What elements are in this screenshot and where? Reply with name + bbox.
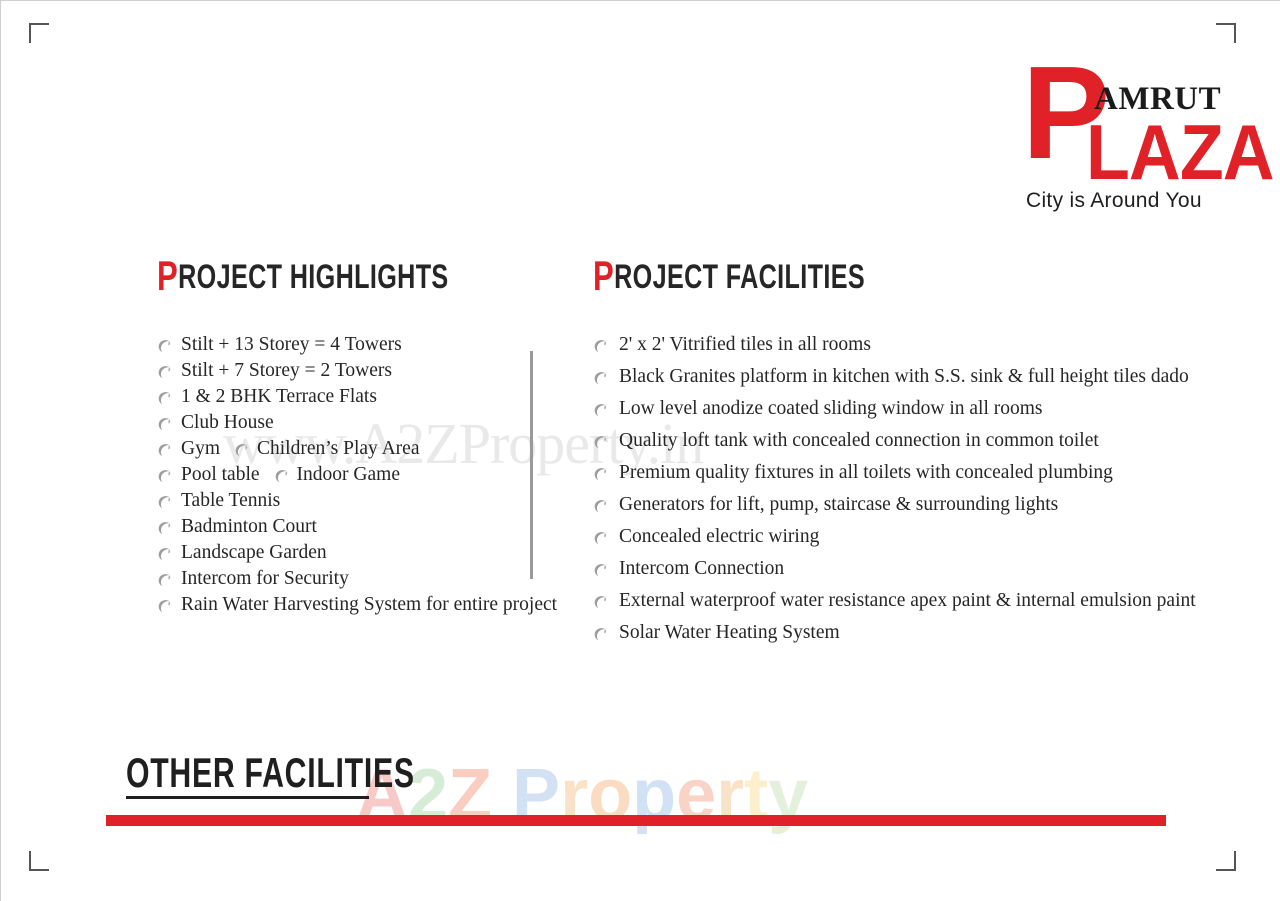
brochure-page: www.A2ZProperty.in A2Z Property P AMRUT …: [0, 0, 1280, 901]
crescent-bullet-icon: [593, 563, 608, 578]
crescent-bullet-icon: [593, 595, 608, 610]
list-item-label: Intercom Connection: [619, 558, 784, 580]
list-item-label: Premium quality fixtures in all toilets …: [619, 462, 1113, 484]
list-project-highlights: Stilt + 13 Storey = 4 TowersStilt + 7 St…: [157, 334, 577, 620]
logo-amrut-plaza: P AMRUT LAZA City is Around You: [1022, 47, 1212, 217]
list-item: GymChildren’s Play Area: [157, 438, 577, 464]
list-item-label: Concealed electric wiring: [619, 526, 819, 548]
crescent-bullet-icon: [593, 339, 608, 354]
heading-highlights-rest: ROJECT HIGHLIGHTS: [178, 258, 448, 296]
list-item-label: Table Tennis: [181, 490, 280, 512]
crescent-bullet-icon: [157, 339, 172, 354]
list-item-label: Low level anodize coated sliding window …: [619, 398, 1043, 420]
list-item: Black Granites platform in kitchen with …: [593, 366, 1193, 398]
list-item-label: Stilt + 13 Storey = 4 Towers: [181, 334, 402, 356]
crescent-bullet-icon: [157, 365, 172, 380]
list-item-label: 2' x 2' Vitrified tiles in all rooms: [619, 334, 871, 356]
list-project-facilities: 2' x 2' Vitrified tiles in all roomsBlac…: [593, 334, 1193, 654]
crescent-bullet-icon: [157, 469, 172, 484]
logo-word-laza: LAZA: [1086, 113, 1274, 191]
list-item: Generators for lift, pump, staircase & s…: [593, 494, 1193, 526]
list-item: Landscape Garden: [157, 542, 577, 568]
crescent-bullet-icon: [593, 531, 608, 546]
crop-mark-icon-bottom-left: [23, 851, 49, 877]
list-item-label: Stilt + 7 Storey = 2 Towers: [181, 360, 392, 382]
list-item-label: Pool table: [181, 464, 260, 486]
list-item: Intercom for Security: [157, 568, 577, 594]
heading-project-highlights: PROJECT HIGHLIGHTS: [157, 259, 449, 294]
list-item-label: Intercom for Security: [181, 568, 349, 590]
list-item-label: Rain Water Harvesting System for entire …: [181, 594, 557, 616]
crescent-bullet-icon: [157, 495, 172, 510]
crop-mark-icon-top-left: [23, 17, 49, 43]
heading-project-facilities: PROJECT FACILITIES: [593, 259, 865, 294]
crescent-bullet-icon: [157, 599, 172, 614]
crescent-bullet-icon: [234, 443, 249, 458]
list-item-label: Solar Water Heating System: [619, 622, 840, 644]
list-item: Club House: [157, 412, 577, 438]
crescent-bullet-icon: [157, 547, 172, 562]
heading-other-facilities: OTHER FACILITIES: [126, 751, 415, 795]
list-item: Badminton Court: [157, 516, 577, 542]
crescent-bullet-icon: [157, 417, 172, 432]
list-item-label: Black Granites platform in kitchen with …: [619, 366, 1189, 388]
list-item: 2' x 2' Vitrified tiles in all rooms: [593, 334, 1193, 366]
crescent-bullet-icon: [157, 391, 172, 406]
list-item: 1 & 2 BHK Terrace Flats: [157, 386, 577, 412]
heading-other-facilities-underline: [126, 796, 369, 799]
column-divider: [530, 351, 533, 579]
list-item-label: Quality loft tank with concealed connect…: [619, 430, 1099, 452]
list-item: Low level anodize coated sliding window …: [593, 398, 1193, 430]
red-accent-bar: [106, 815, 1166, 826]
crescent-bullet-icon: [593, 435, 608, 450]
list-item-label: Club House: [181, 412, 274, 434]
list-item-label: External waterproof water resistance ape…: [619, 590, 1196, 612]
list-item: Concealed electric wiring: [593, 526, 1193, 558]
list-item: Pool tableIndoor Game: [157, 464, 577, 490]
list-item: Rain Water Harvesting System for entire …: [157, 594, 577, 620]
crescent-bullet-icon: [593, 627, 608, 642]
crescent-bullet-icon: [593, 371, 608, 386]
crescent-bullet-icon: [157, 521, 172, 536]
list-item: Solar Water Heating System: [593, 622, 1193, 654]
list-item: Stilt + 7 Storey = 2 Towers: [157, 360, 577, 386]
crescent-bullet-icon: [274, 469, 289, 484]
crescent-bullet-icon: [157, 573, 172, 588]
list-item-secondary-label: Indoor Game: [297, 464, 400, 486]
list-item: Intercom Connection: [593, 558, 1193, 590]
list-item-label: Landscape Garden: [181, 542, 327, 564]
list-item: Table Tennis: [157, 490, 577, 516]
list-item-label: 1 & 2 BHK Terrace Flats: [181, 386, 377, 408]
list-item-label: Gym: [181, 438, 220, 460]
list-item-secondary: Children’s Play Area: [234, 438, 419, 460]
crescent-bullet-icon: [593, 499, 608, 514]
heading-facilities-cap: P: [593, 252, 614, 299]
crop-mark-icon-bottom-right: [1216, 851, 1242, 877]
crescent-bullet-icon: [157, 443, 172, 458]
list-item: Premium quality fixtures in all toilets …: [593, 462, 1193, 494]
heading-highlights-cap: P: [157, 252, 178, 299]
crescent-bullet-icon: [593, 467, 608, 482]
list-item: External waterproof water resistance ape…: [593, 590, 1193, 622]
list-item: Stilt + 13 Storey = 4 Towers: [157, 334, 577, 360]
heading-facilities-rest: ROJECT FACILITIES: [614, 258, 865, 296]
list-item-secondary-label: Children’s Play Area: [257, 438, 419, 460]
list-item: Quality loft tank with concealed connect…: [593, 430, 1193, 462]
crescent-bullet-icon: [593, 403, 608, 418]
list-item-label: Generators for lift, pump, staircase & s…: [619, 494, 1058, 516]
crop-mark-icon-top-right: [1216, 17, 1242, 43]
logo-tagline: City is Around You: [1026, 190, 1202, 211]
list-item-label: Badminton Court: [181, 516, 317, 538]
list-item-secondary: Indoor Game: [274, 464, 400, 486]
